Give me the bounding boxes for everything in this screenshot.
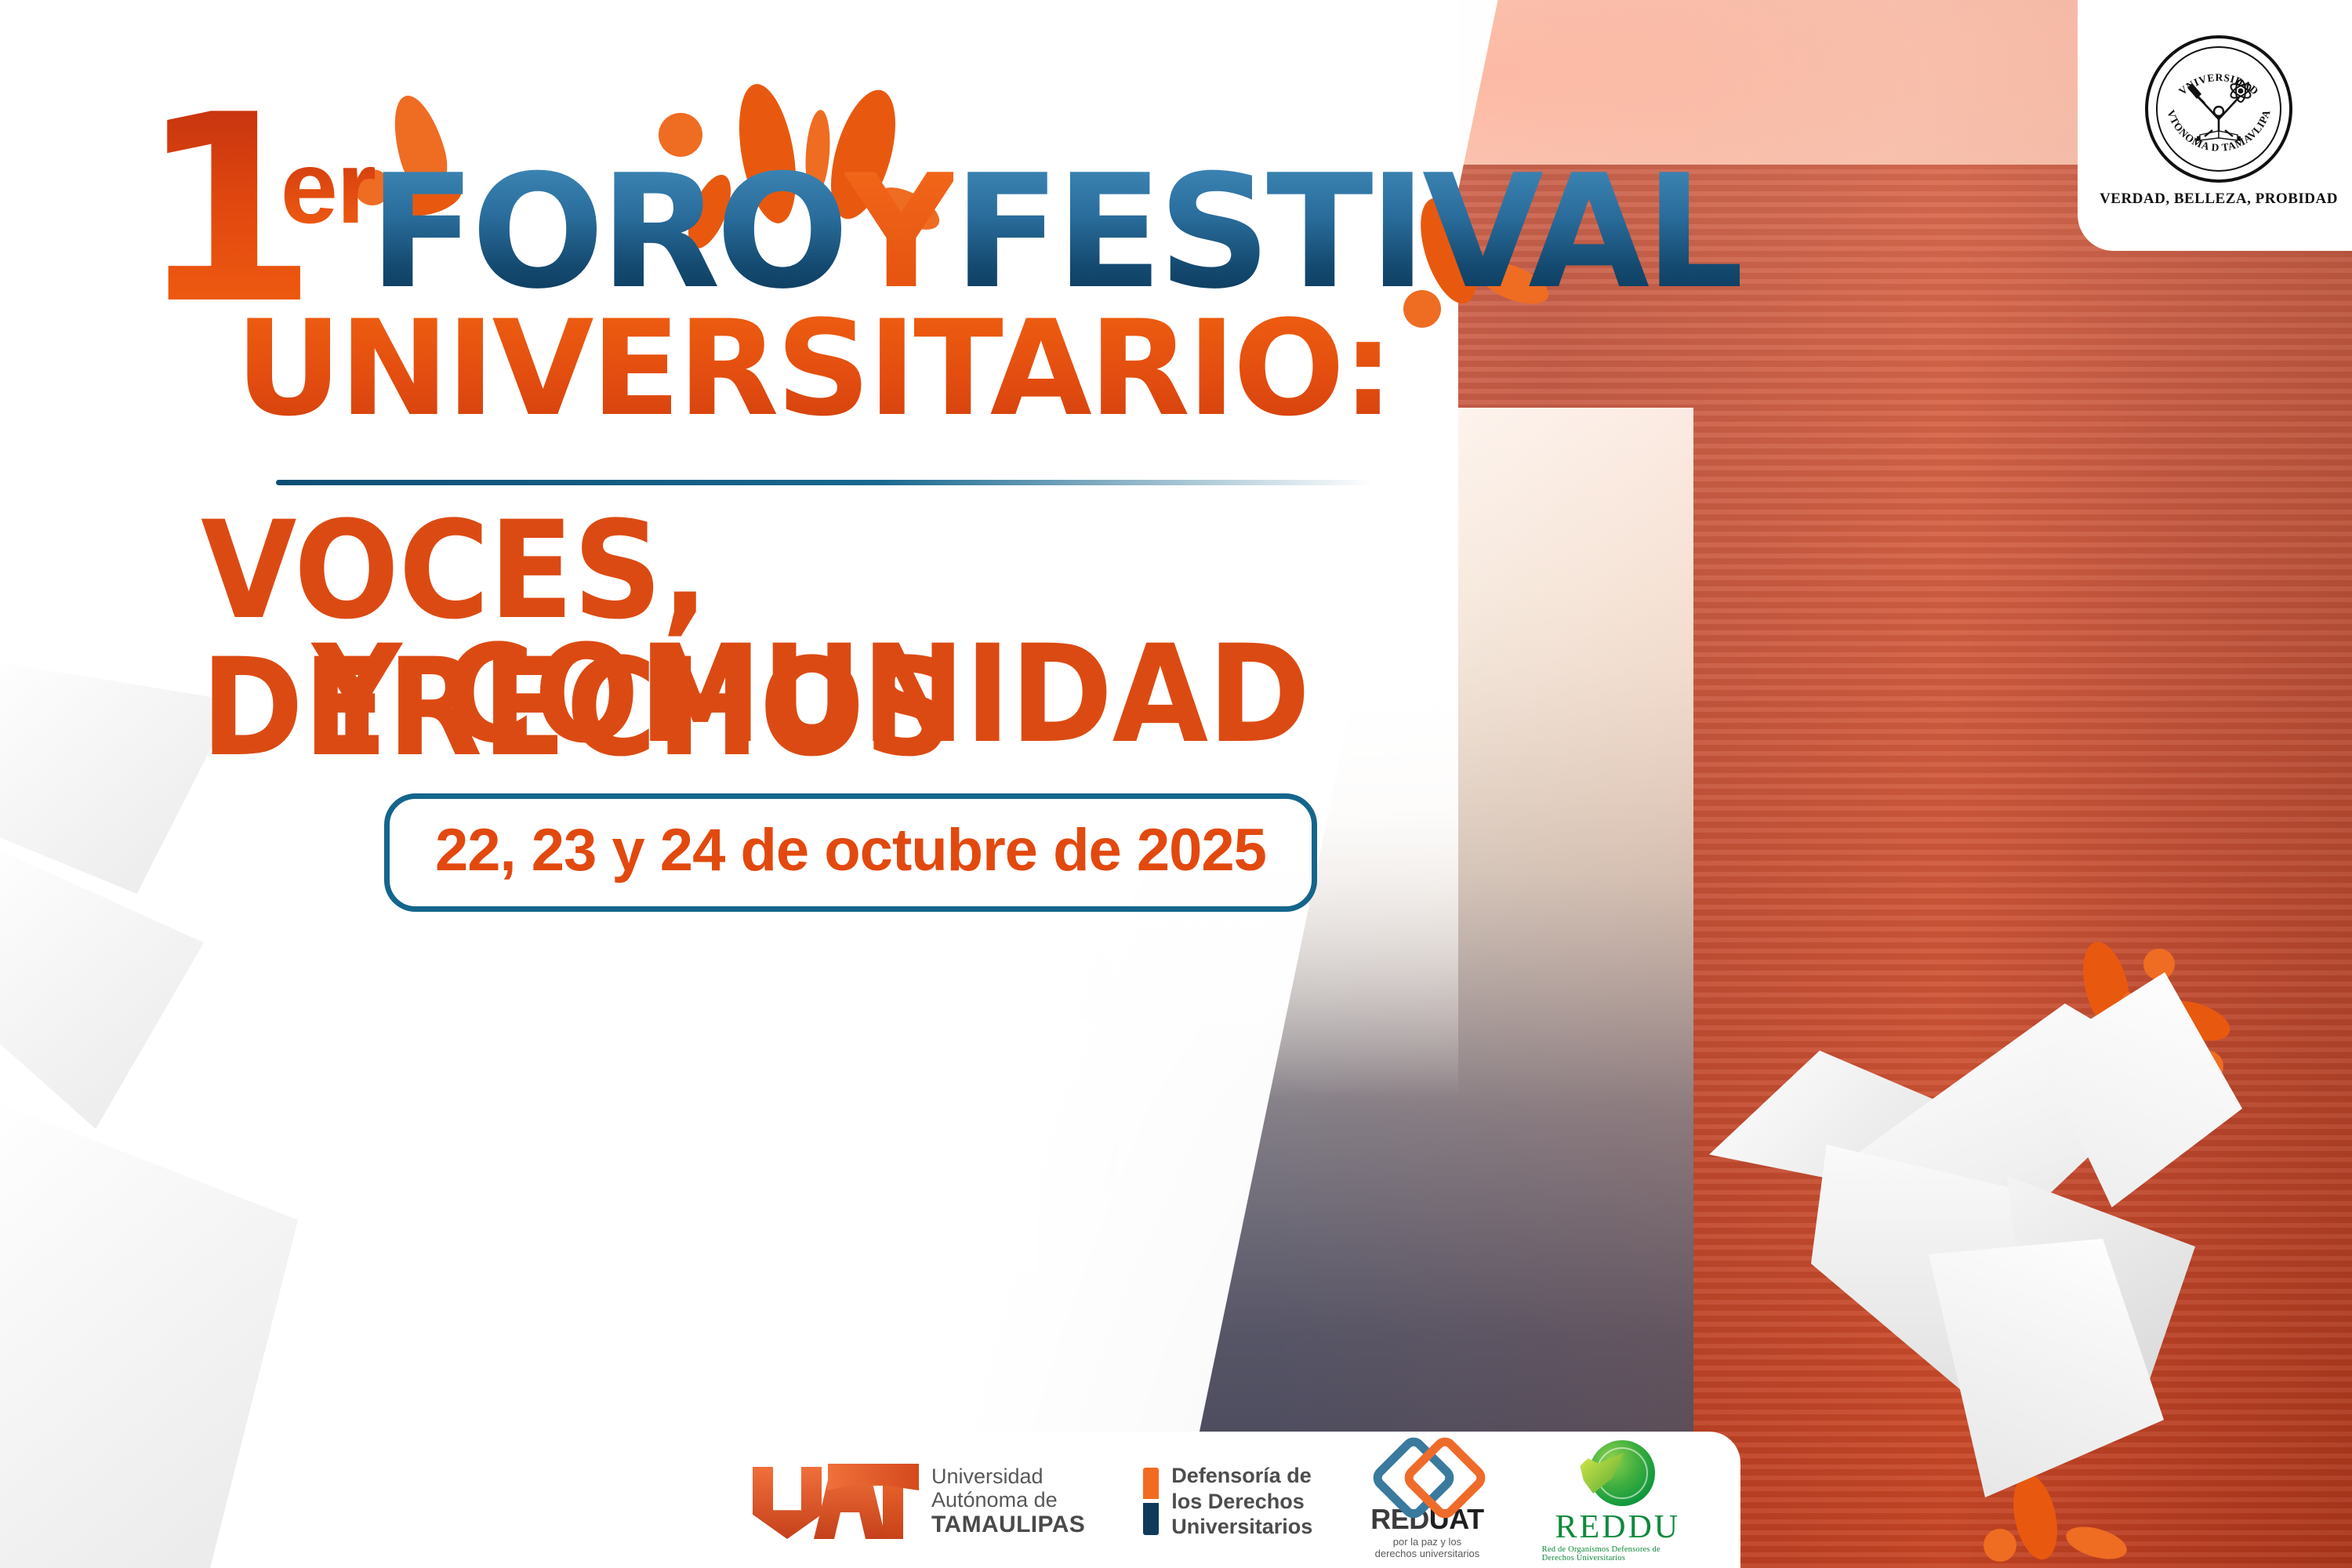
logo-uat: Universidad Autónoma de TAMAULIPAS [753, 1464, 1085, 1539]
ordinal-number: 1 [138, 110, 301, 311]
reddu-tagline: Red de Organismos Defensores de Derechos… [1542, 1545, 1693, 1563]
speaker-body [379, 947, 430, 1025]
uat-logo-text: Universidad Autónoma de TAMAULIPAS [931, 1465, 1085, 1538]
student-body [854, 1138, 937, 1243]
seal-figure-icon [2181, 78, 2256, 146]
defensoria-logo-text: Defensoría de los Derechos Universitario… [1171, 1463, 1312, 1539]
date-badge: 22, 23 y 24 de octubre de 2025 [384, 793, 1317, 912]
student-head [572, 1046, 641, 1143]
red-uat-tagline: por la paz y los derechos universitarios [1370, 1537, 1483, 1560]
sponsor-logo-bar: Universidad Autónoma de TAMAULIPAS Defen… [706, 1432, 1740, 1568]
uat-seal-icon: VNIVERSIDAD AVTONOMA D TAMAVLIPAS [2145, 35, 2292, 183]
title-word-foro: FORO [368, 161, 844, 305]
desk [949, 1127, 1066, 1145]
reddu-globe-icon [1580, 1440, 1655, 1509]
desk [237, 1150, 331, 1166]
student-head [1057, 942, 1113, 1020]
title-word-y: Y [844, 161, 953, 305]
defensoria-bars-icon [1143, 1468, 1159, 1535]
red-uat-links-icon [1381, 1443, 1472, 1502]
uat-line-2: Autónoma de [931, 1488, 1085, 1512]
student-head [772, 988, 833, 1073]
chair [406, 1406, 508, 1531]
origami-dove-icon [1709, 1004, 2227, 1490]
uat-seal-card: VNIVERSIDAD AVTONOMA D TAMAVLIPAS [2078, 0, 2352, 251]
student-body [298, 1266, 398, 1384]
uat-line-3: TAMAULIPAS [931, 1512, 1085, 1538]
student-body [606, 1475, 716, 1568]
student-body [949, 1162, 1036, 1272]
student-head [870, 976, 930, 1059]
seal-motto-text: VERDAD, BELLEZA, PROBIDAD [2100, 191, 2338, 208]
student-body [430, 1243, 524, 1361]
subtitle-line-2: Y COMUNIDAD [312, 626, 1310, 763]
student-head [325, 1080, 397, 1174]
reddu-wordmark: REDDU [1555, 1511, 1680, 1544]
uat-logo-icon [753, 1464, 919, 1539]
desk [745, 1174, 862, 1191]
student-body [755, 1150, 841, 1257]
title-divider-rule [276, 480, 1374, 485]
ordinal-suffix: er [281, 136, 376, 239]
speaker-legs [393, 1104, 437, 1168]
defensoria-line-2: los Derechos [1171, 1489, 1312, 1514]
title-word-festival: FESTIVAL [953, 161, 1740, 305]
title-line-foro-festival: 1 er FORO Y FESTIVAL [138, 110, 1766, 311]
logo-reddu: REDDU Red de Organismos Defensores de De… [1542, 1440, 1693, 1563]
headline-block: 1 er FORO Y FESTIVAL UNIVERSITARIO: VOCE… [0, 0, 1568, 941]
student-head [965, 988, 1029, 1076]
logo-red-uat: REDUAT por la paz y los derechos univers… [1370, 1443, 1483, 1560]
defensoria-line-3: Universitarios [1171, 1514, 1312, 1539]
logo-defensoria: Defensoría de los Derechos Universitario… [1143, 1463, 1312, 1539]
title-line-universitario: UNIVERSITARIO: [235, 303, 1392, 434]
poster-canvas: 1 er FORO Y FESTIVAL UNIVERSITARIO: VOCE… [0, 0, 2352, 1568]
student-head [684, 1011, 747, 1099]
desk [491, 1208, 593, 1224]
student-head [451, 1069, 518, 1160]
defensoria-line-1: Defensoría de [1171, 1463, 1312, 1488]
uat-line-1: Universidad [931, 1465, 1085, 1488]
date-badge-text: 22, 23 y 24 de octubre de 2025 [435, 817, 1266, 884]
